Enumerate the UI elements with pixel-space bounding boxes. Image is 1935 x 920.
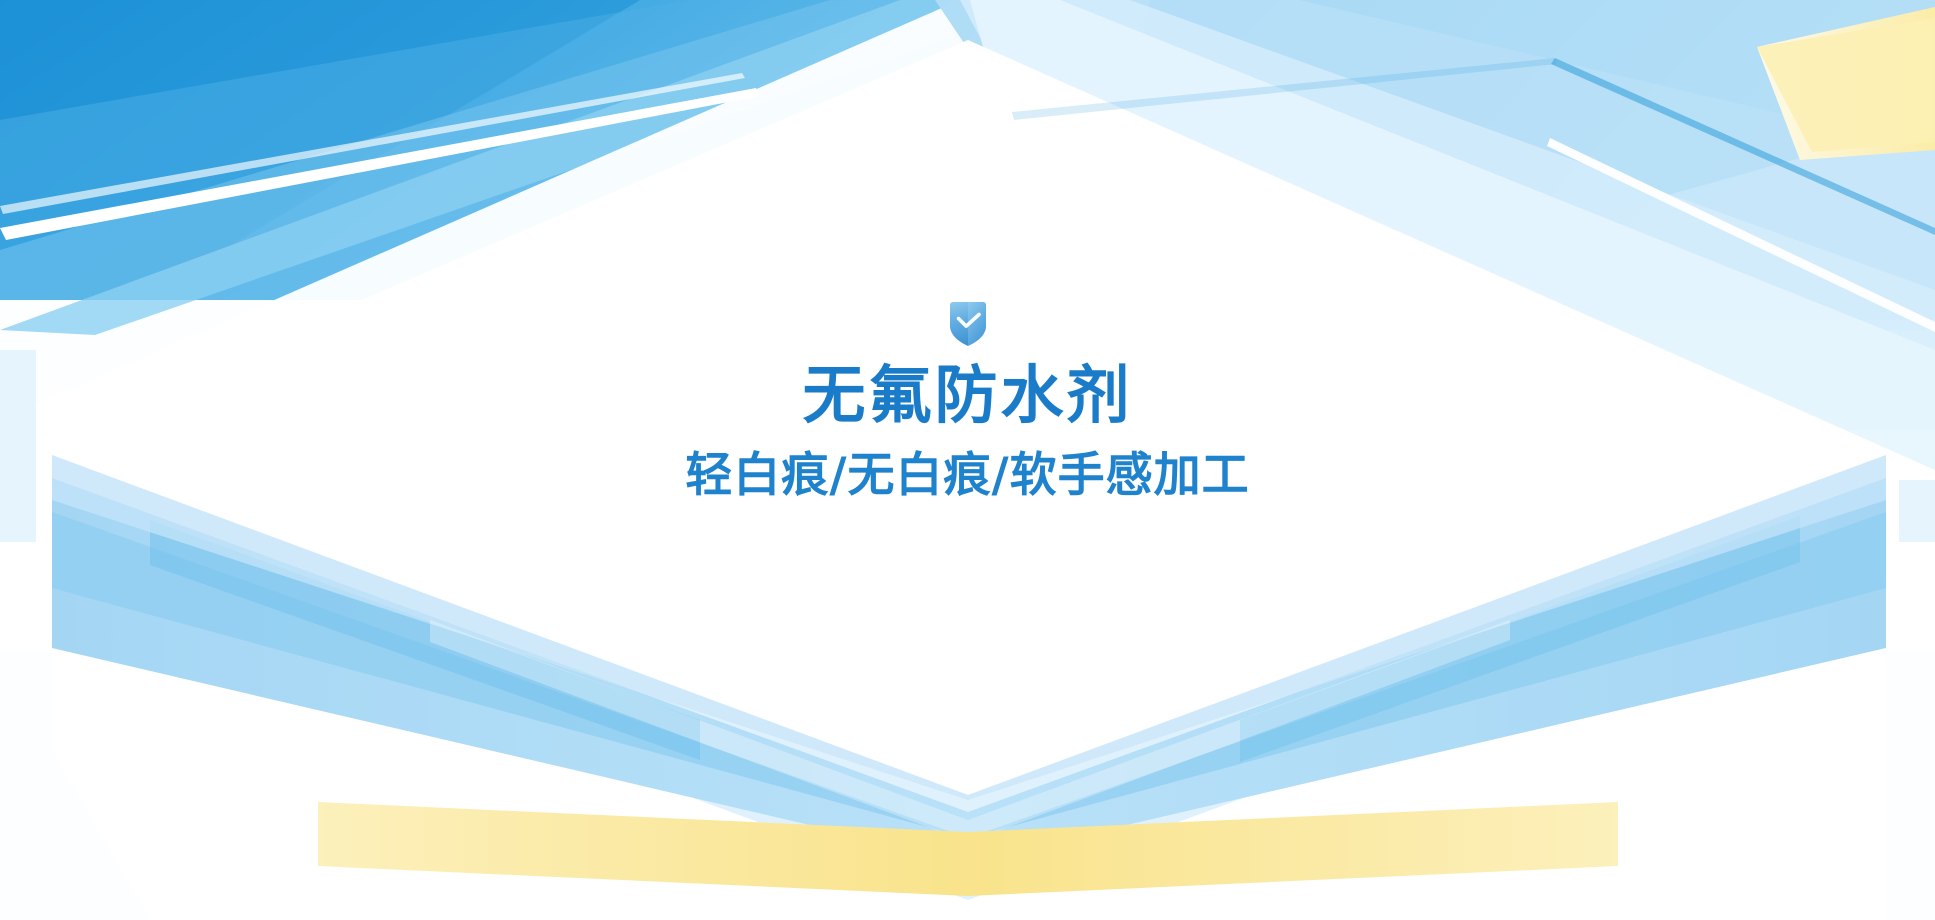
product-hero-banner: 无氟防水剂 轻白痕/无白痕/软手感加工 (0, 0, 1935, 920)
page-subtitle: 轻白痕/无白痕/软手感加工 (685, 450, 1249, 502)
page-title: 无氟防水剂 (803, 362, 1133, 430)
shield-check-icon (946, 300, 990, 348)
